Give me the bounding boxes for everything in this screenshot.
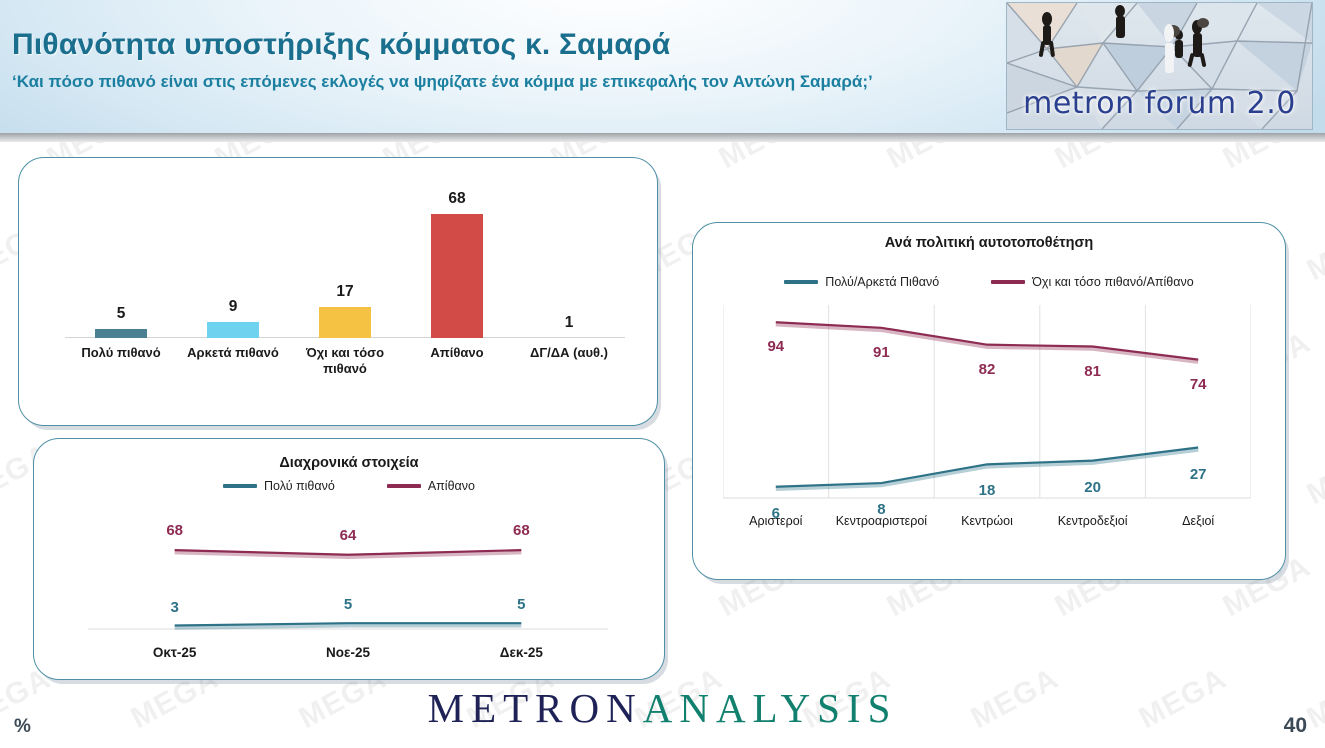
data-point-label: 5 <box>344 596 352 613</box>
bar-value-label: 68 <box>401 190 513 208</box>
x-axis-category-label: Νοε-25 <box>326 645 370 660</box>
data-point-label: 3 <box>170 599 178 616</box>
bar[interactable] <box>431 214 483 338</box>
political-title: Ανά πολιτική αυτοτοποθέτηση <box>693 235 1285 251</box>
panel-timeseries: Διαχρονικά στοιχεία Πολύ πιθανόΑπίθανο 3… <box>33 438 665 680</box>
x-axis-category-label: Κεντρώοι <box>961 514 1013 528</box>
bar-group[interactable]: 5Πολύ πιθανό <box>65 329 177 338</box>
x-axis-category-label: Κεντροαριστεροί <box>836 514 927 528</box>
header-divider-band <box>0 133 1325 142</box>
bar-value-label: 1 <box>513 314 625 332</box>
timeseries-title: Διαχρονικά στοιχεία <box>34 455 664 471</box>
series-line-shadow <box>776 324 1198 361</box>
political-plot: 681820279491828174ΑριστεροίΚεντροαριστερ… <box>723 301 1251 526</box>
data-point-label: 82 <box>979 361 996 378</box>
bar-category-label: Απίθανο <box>397 338 517 361</box>
panel-overall-bars: 5Πολύ πιθανό9Αρκετά πιθανό17Όχι και τόσο… <box>18 157 658 426</box>
x-axis-category-label: Δεκ-25 <box>500 645 543 660</box>
legend-item[interactable]: Πολύ/Αρκετά Πιθανό <box>784 275 939 289</box>
data-point-label: 20 <box>1084 479 1101 496</box>
bar-value-label: 17 <box>289 283 401 301</box>
brand-analysis: ANALYSIS <box>643 685 898 731</box>
logo-wordmark: metron forum 2.0 <box>1007 86 1312 121</box>
legend-label: Απίθανο <box>428 479 475 493</box>
data-point-label: 81 <box>1084 363 1101 380</box>
bar-category-label: Πολύ πιθανό <box>61 338 181 361</box>
x-axis-category-label: Αριστεροί <box>749 514 802 528</box>
legend-label: Όχι και τόσο πιθανό/Απίθανο <box>1032 275 1193 289</box>
data-point-label: 18 <box>979 482 996 499</box>
timeseries-legend: Πολύ πιθανόΑπίθανο <box>34 479 664 493</box>
panel-political-selfplacement: Ανά πολιτική αυτοτοποθέτηση Πολύ/Αρκετά … <box>692 222 1286 580</box>
legend-color-swatch <box>784 280 818 284</box>
legend-item[interactable]: Απίθανο <box>387 479 475 493</box>
metron-forum-logo: metron forum 2.0 <box>1006 2 1313 130</box>
bar-category-label: ΔΓ/ΔΑ (αυθ.) <box>509 338 629 361</box>
legend-label: Πολύ/Αρκετά Πιθανό <box>825 275 939 289</box>
bar[interactable] <box>319 307 371 338</box>
data-point-label: 27 <box>1190 466 1207 483</box>
footer-page-number: 40 <box>1284 714 1307 738</box>
page-title: Πιθανότητα υποστήριξης κόμματος κ. Σαμαρ… <box>12 28 670 62</box>
bar-group[interactable]: 9Αρκετά πιθανό <box>177 322 289 338</box>
bar-value-label: 9 <box>177 298 289 316</box>
legend-color-swatch <box>991 280 1025 284</box>
legend-color-swatch <box>223 484 257 488</box>
data-point-label: 74 <box>1190 376 1207 393</box>
watermark-text: MEGA <box>1302 438 1325 512</box>
bar[interactable] <box>95 329 147 338</box>
footer-brand: METRONANALYSIS <box>0 684 1325 732</box>
brand-metron: METRON <box>428 685 643 731</box>
legend-item[interactable]: Πολύ πιθανό <box>223 479 335 493</box>
watermark-text: MEGA <box>1302 214 1325 288</box>
bar-category-label: Αρκετά πιθανό <box>173 338 293 361</box>
bar-category-label: Όχι και τόσο πιθανό <box>285 338 405 378</box>
bar-chart: 5Πολύ πιθανό9Αρκετά πιθανό17Όχι και τόσο… <box>65 192 625 370</box>
page-subtitle: ‘Και πόσο πιθανό είναι στις επόμενες εκλ… <box>12 70 942 95</box>
bar-group[interactable]: 68Απίθανο <box>401 214 513 338</box>
political-legend: Πολύ/Αρκετά ΠιθανόΌχι και τόσο πιθανό/Απ… <box>693 275 1285 289</box>
bar-group[interactable]: 17Όχι και τόσο πιθανό <box>289 307 401 338</box>
legend-item[interactable]: Όχι και τόσο πιθανό/Απίθανο <box>991 275 1193 289</box>
data-point-label: 68 <box>166 522 183 539</box>
data-point-label: 5 <box>517 596 525 613</box>
data-point-label: 68 <box>513 522 530 539</box>
bar[interactable] <box>207 322 259 338</box>
data-point-label: 91 <box>873 344 890 361</box>
timeseries-plot: 355686468Οκτ-25Νοε-25Δεκ-25 <box>88 501 608 643</box>
x-axis-category-label: Κεντροδεξιοί <box>1058 514 1128 528</box>
bar-value-label: 5 <box>65 305 177 323</box>
x-axis-category-label: Οκτ-25 <box>153 645 197 660</box>
legend-color-swatch <box>387 484 421 488</box>
data-point-label: 64 <box>340 527 357 544</box>
x-axis-category-label: Δεξιοί <box>1182 514 1214 528</box>
legend-label: Πολύ πιθανό <box>264 479 335 493</box>
data-point-label: 94 <box>767 338 784 355</box>
